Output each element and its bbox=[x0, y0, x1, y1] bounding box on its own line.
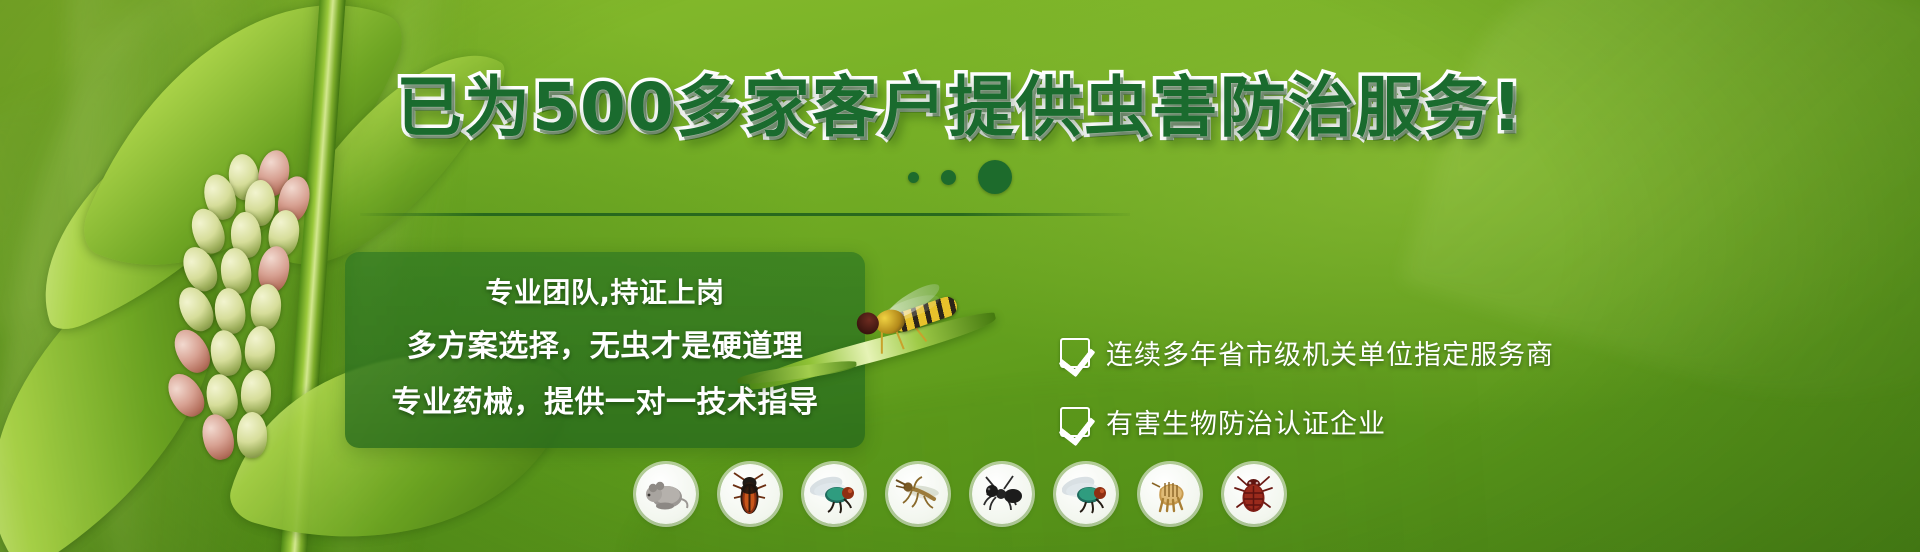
cockroach-icon bbox=[730, 471, 770, 517]
housefly-icon bbox=[810, 474, 858, 514]
flea-icon bbox=[1148, 473, 1192, 515]
dot-large-icon bbox=[978, 160, 1012, 194]
pest-circle-blowfly[interactable]: 苍蝇 bbox=[1056, 464, 1116, 524]
bullet-item: 连续多年省市级机关单位指定服务商 bbox=[1060, 333, 1780, 372]
divider-rule bbox=[360, 213, 1130, 216]
pest-circle-mosquito[interactable]: 蚊 bbox=[888, 464, 948, 524]
dot-medium-icon bbox=[941, 170, 956, 185]
pest-circle-mouse[interactable]: 鼠 bbox=[636, 464, 696, 524]
bullet-text: 连续多年省市级机关单位指定服务商 bbox=[1106, 333, 1554, 372]
decorative-dots bbox=[0, 160, 1920, 194]
bullet-text: 有害生物防治认证企业 bbox=[1106, 402, 1386, 441]
checkbox-checked-icon bbox=[1060, 407, 1090, 437]
mouse-icon bbox=[643, 475, 689, 513]
hoverfly-on-blade-image bbox=[745, 292, 1045, 402]
blowfly-icon bbox=[1062, 474, 1110, 514]
pest-circle-housefly[interactable]: 蝇 bbox=[804, 464, 864, 524]
hoverfly-icon bbox=[848, 281, 967, 359]
promo-banner: 已为500多家客户提供虫害防治服务! 专业团队,持证上岗 多方案选择，无虫才是硬… bbox=[0, 0, 1920, 552]
pest-circle-bedbug[interactable]: 臭虫 bbox=[1224, 464, 1284, 524]
bullet-item: 有害生物防治认证企业 bbox=[1060, 402, 1780, 441]
checkbox-checked-icon bbox=[1060, 338, 1090, 368]
pest-circle-cockroach[interactable]: 蟑螂 bbox=[720, 464, 780, 524]
mosquito-icon bbox=[894, 474, 942, 514]
pest-icon-row: 鼠 蟑螂 bbox=[0, 464, 1920, 524]
certification-bullets: 连续多年省市级机关单位指定服务商 有害生物防治认证企业 bbox=[1060, 333, 1780, 471]
dot-small-icon bbox=[908, 172, 919, 183]
bedbug-icon bbox=[1233, 473, 1275, 515]
ant-icon bbox=[980, 473, 1024, 515]
pest-circle-flea[interactable]: 跳蚤 bbox=[1140, 464, 1200, 524]
pest-circle-ant[interactable]: 蚁 bbox=[972, 464, 1032, 524]
